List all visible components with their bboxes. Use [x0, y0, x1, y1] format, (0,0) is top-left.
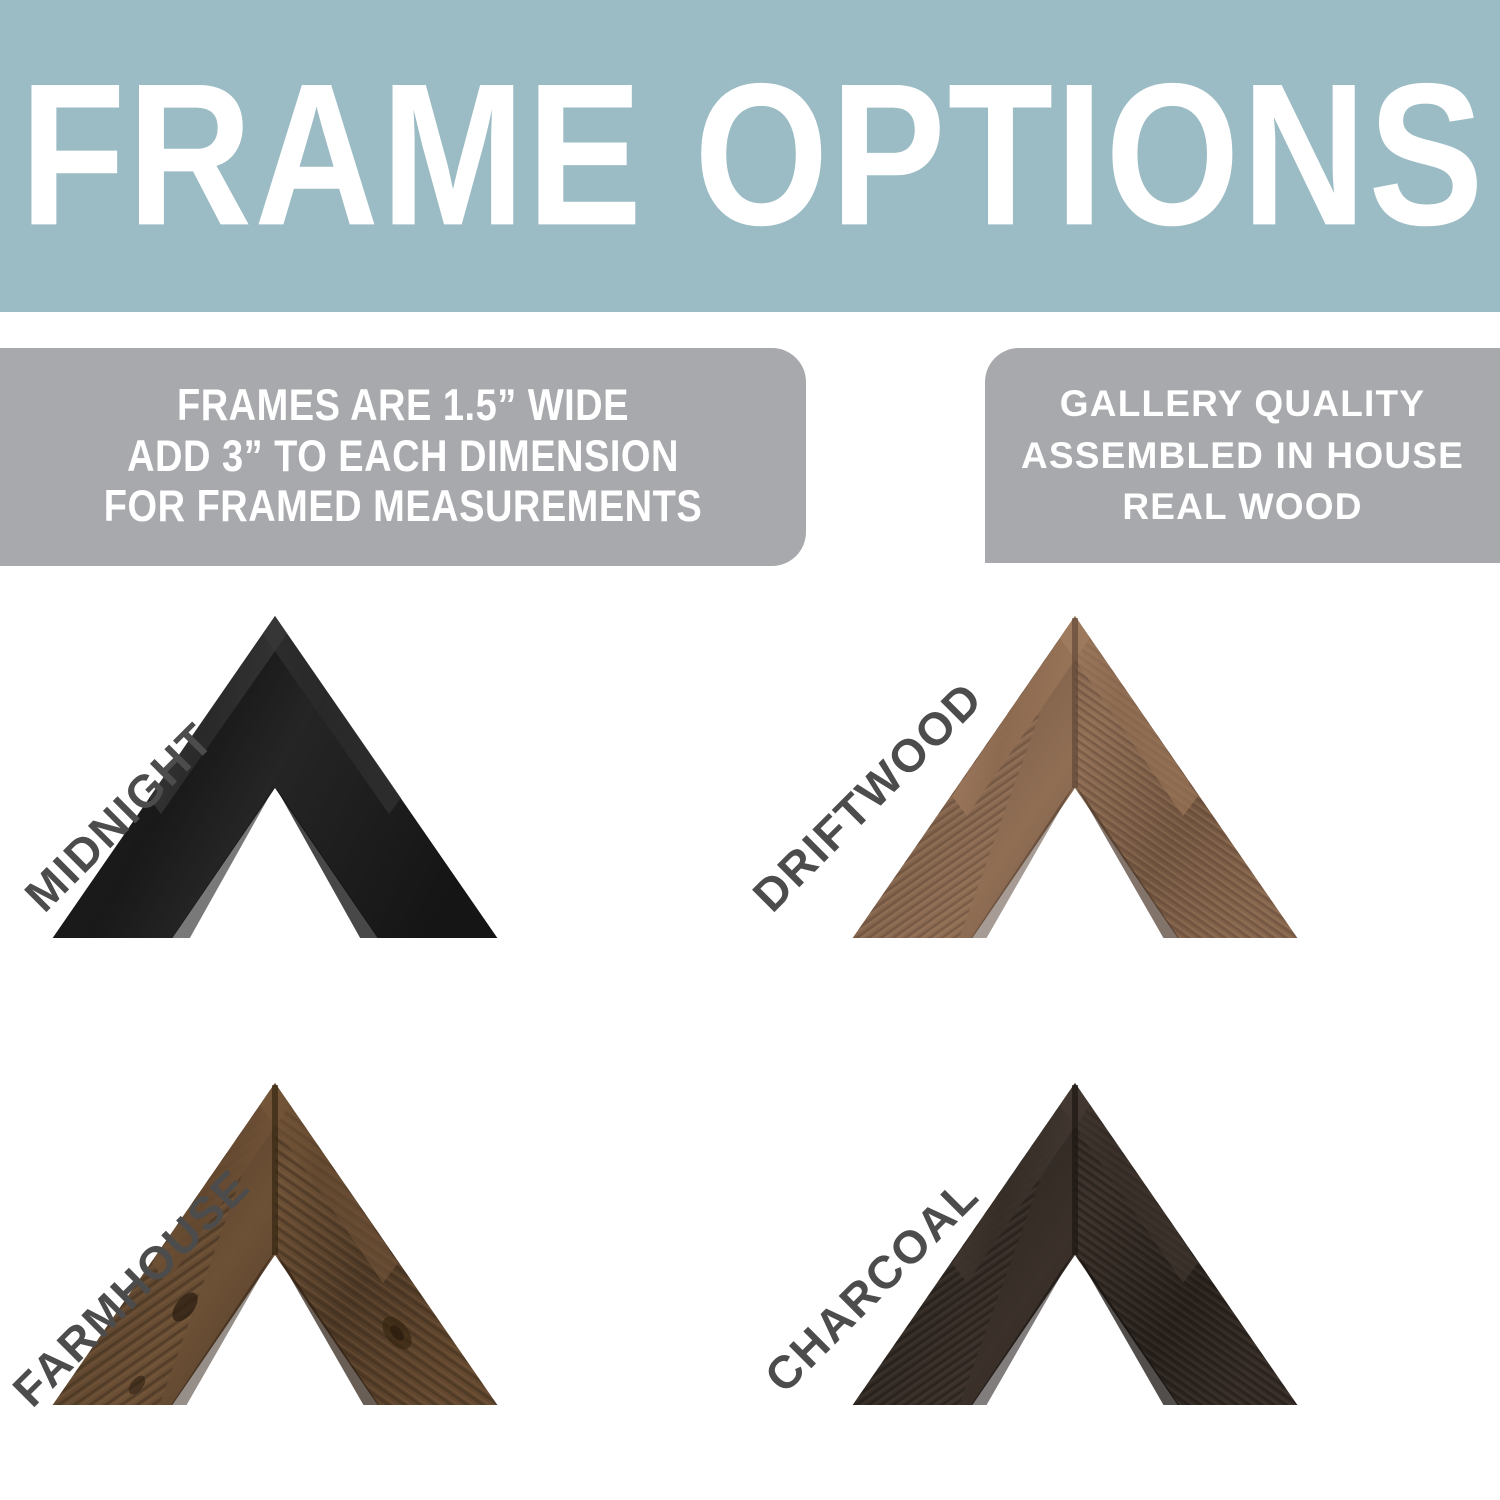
frame-sample-driftwood[interactable]: DRIFTWOOD	[750, 566, 1500, 1033]
page-title: FRAME OPTIONS	[14, 55, 1486, 258]
frame-corner-icon	[25, 608, 525, 938]
measurements-info-panel: FRAMES ARE 1.5” WIDE ADD 3” TO EACH DIME…	[0, 348, 806, 566]
quality-line-1: GALLERY QUALITY	[1060, 378, 1425, 430]
measurements-line-3: FOR FRAMED MEASUREMENTS	[104, 478, 702, 538]
frame-sample-midnight[interactable]: MIDNIGHT	[0, 566, 750, 1033]
quality-line-2: ASSEMBLED IN HOUSE	[1021, 430, 1464, 482]
header-banner: FRAME OPTIONS	[0, 0, 1500, 312]
frame-corner-midnight	[25, 608, 525, 938]
frame-sample-farmhouse[interactable]: FARMHOUSE	[0, 1033, 750, 1500]
info-panel-row: FRAMES ARE 1.5” WIDE ADD 3” TO EACH DIME…	[0, 348, 1500, 566]
frame-sample-charcoal[interactable]: CHARCOAL	[750, 1033, 1500, 1500]
frame-sample-grid: MIDNIGHT	[0, 566, 1500, 1500]
quality-info-panel: GALLERY QUALITY ASSEMBLED IN HOUSE REAL …	[985, 348, 1500, 563]
quality-line-3: REAL WOOD	[1122, 481, 1362, 533]
